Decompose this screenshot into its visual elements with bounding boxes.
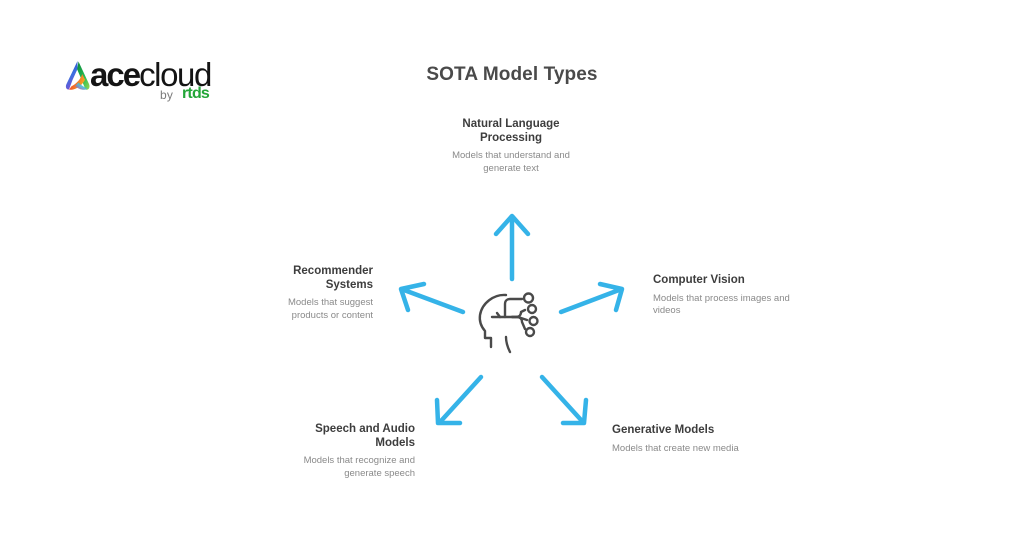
node-generative-models[interactable]: Generative Models Models that create new… <box>612 424 772 455</box>
node-description: Models that recognize and generate speec… <box>294 455 415 480</box>
arrow-up-right-icon <box>561 284 622 312</box>
node-title: Generative Models <box>612 424 772 438</box>
diagram-canvas: Natural Language Processing Models that … <box>0 0 1024 536</box>
node-speech-and-audio-models[interactable]: Speech and Audio Models Models that reco… <box>294 423 415 480</box>
node-natural-language-processing[interactable]: Natural Language Processing Models that … <box>437 118 585 175</box>
ai-head-circuit-icon <box>472 282 550 360</box>
node-title: Computer Vision <box>653 274 813 288</box>
arrow-up-left-icon <box>401 284 463 312</box>
node-description: Models that suggest products or content <box>252 297 373 322</box>
arrow-down-left-icon <box>437 377 481 423</box>
node-description: Models that understand and generate text <box>437 150 585 175</box>
node-description: Models that create new media <box>612 443 772 456</box>
node-title: Speech and Audio Models <box>294 423 415 450</box>
node-title: Recommender Systems <box>252 265 373 292</box>
node-recommender-systems[interactable]: Recommender Systems Models that suggest … <box>252 265 373 322</box>
arrow-up-icon <box>496 216 528 279</box>
node-computer-vision[interactable]: Computer Vision Models that process imag… <box>653 274 813 318</box>
arrow-down-right-icon <box>542 377 586 423</box>
diagram-arrows-layer <box>0 0 1024 536</box>
node-description: Models that process images and videos <box>653 293 813 318</box>
node-title: Natural Language Processing <box>437 118 585 145</box>
